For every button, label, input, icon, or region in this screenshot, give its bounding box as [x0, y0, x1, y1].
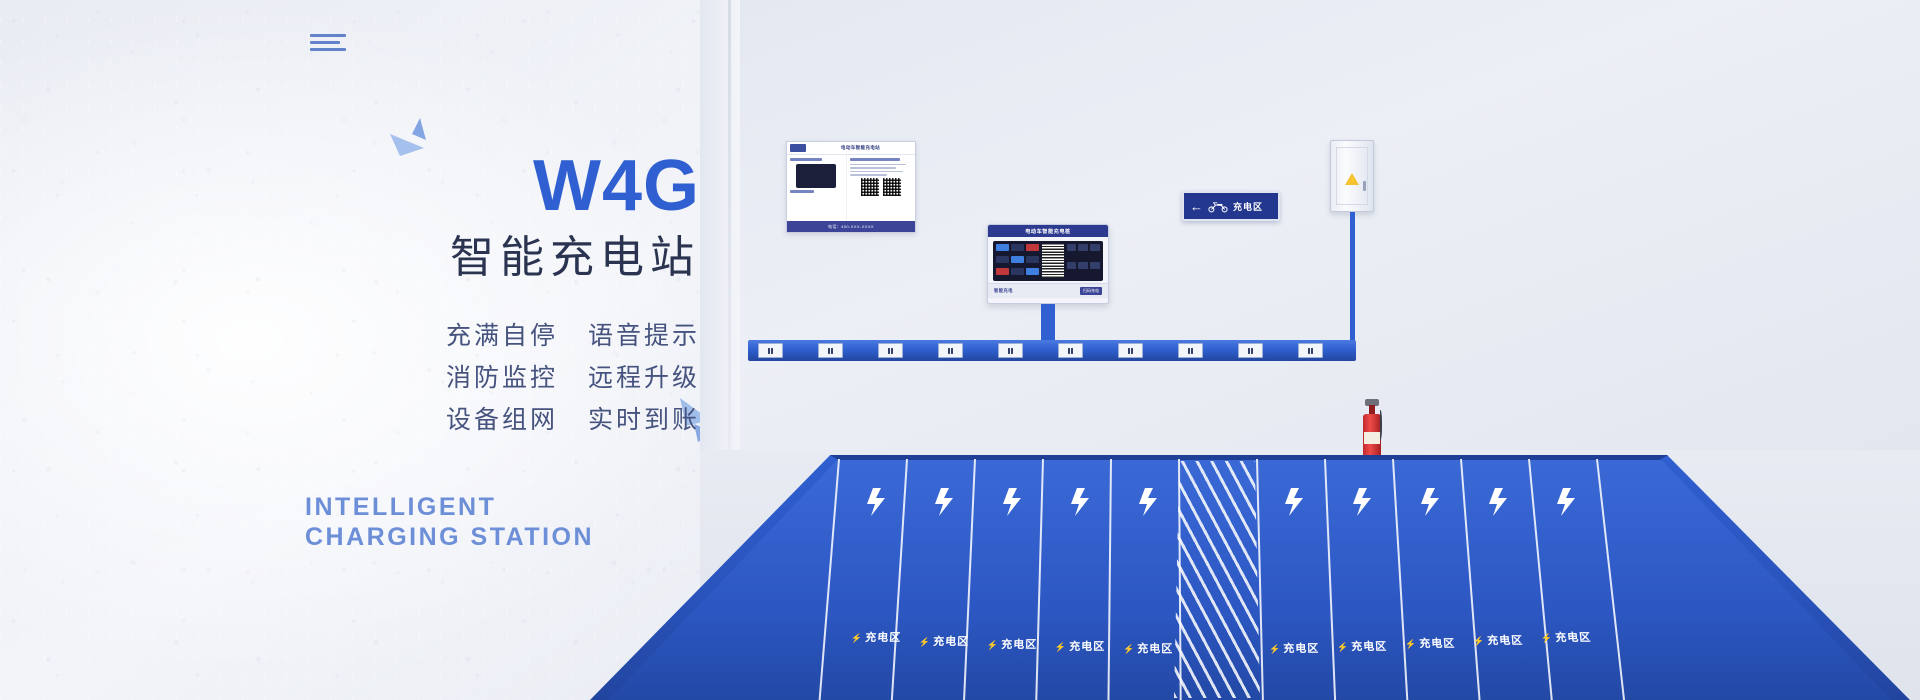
power-conduit-vertical	[1350, 212, 1355, 346]
pile-footer: 智能充电 扫码充电	[988, 283, 1108, 298]
charging-plug-icon	[928, 485, 962, 519]
feature-row: 充满自停 语音提示	[300, 319, 700, 354]
high-voltage-warning-icon	[1345, 173, 1359, 185]
pile-qr-code-icon[interactable]	[1042, 244, 1064, 278]
charging-outlet[interactable]	[758, 343, 783, 358]
charging-outlet[interactable]	[818, 343, 843, 358]
parking-bay-label: ⚡充电区	[919, 633, 970, 649]
parking-bay[interactable]: ⚡充电区	[1120, 483, 1184, 673]
pile-keypad[interactable]	[1067, 244, 1100, 278]
parking-bay-label: ⚡充电区	[850, 629, 901, 645]
qr-code-icon	[861, 178, 879, 196]
pile-port[interactable]	[1026, 244, 1039, 251]
parking-bay[interactable]: ⚡充电区	[1266, 483, 1330, 673]
pile-key[interactable]	[1090, 262, 1100, 269]
pile-key[interactable]	[1067, 244, 1077, 251]
parking-bay[interactable]: ⚡充电区	[1334, 483, 1398, 673]
feature-item: 实时到账	[588, 403, 700, 438]
pile-port[interactable]	[996, 268, 1009, 275]
charging-plug-icon	[1414, 485, 1448, 519]
feature-item: 充满自停	[446, 319, 558, 354]
charging-plug-icon	[996, 485, 1030, 519]
pile-port[interactable]	[996, 256, 1009, 263]
parking-bay[interactable]: ⚡充电区	[1052, 483, 1116, 673]
pile-port[interactable]	[1011, 256, 1024, 263]
extinguisher-hose	[1378, 410, 1382, 440]
poster-body	[787, 155, 915, 221]
poster-chip	[790, 190, 814, 193]
parking-bay-label: ⚡充电区	[1269, 640, 1320, 656]
lot-top-edge	[830, 455, 1668, 460]
pile-port[interactable]	[1026, 256, 1039, 263]
charging-plug-icon	[1278, 485, 1312, 519]
charging-outlet[interactable]	[1178, 343, 1203, 358]
poster-footer: 电话：400-XXX-XXXX	[787, 221, 915, 233]
hero-copy: W4G 智能充电站 充满自停 语音提示 消防监控 远程升级 设备组网 实时到账	[300, 150, 700, 445]
english-tagline-line2: CHARGING STATION	[305, 522, 594, 552]
parking-bay[interactable]: ⚡充电区	[1470, 483, 1534, 673]
pile-key[interactable]	[1078, 244, 1088, 251]
poster-logo	[790, 144, 806, 152]
brand-title: W4G	[300, 150, 700, 222]
back-wall	[730, 0, 1920, 470]
parking-bay-label: ⚡充电区	[1123, 640, 1173, 656]
poster-left-column	[787, 155, 846, 221]
poster-qr-group	[850, 178, 912, 196]
pile-badge: 扫码充电	[1080, 287, 1102, 295]
hamburger-bar	[310, 34, 346, 37]
hamburger-bar	[310, 48, 346, 51]
pile-title: 电动车智能充电桩	[1025, 228, 1071, 235]
poster-text-line	[850, 164, 906, 166]
no-parking-hatched-zone	[1174, 461, 1260, 698]
parking-lot: ⚡充电区 ⚡充电区 ⚡充电区 ⚡充电区	[590, 455, 1910, 700]
pile-key[interactable]	[1067, 262, 1077, 269]
parking-bay[interactable]: ⚡充电区	[1538, 483, 1602, 673]
charging-outlet[interactable]	[1118, 343, 1143, 358]
electrical-cabinet[interactable]	[1330, 140, 1374, 212]
charging-plug-icon	[1346, 485, 1380, 519]
hamburger-menu-icon[interactable]	[310, 34, 346, 55]
parking-bay-label: ⚡充电区	[1540, 629, 1592, 645]
pile-key[interactable]	[1078, 262, 1088, 269]
feature-item: 语音提示	[588, 319, 700, 354]
poster-text-line	[850, 167, 897, 169]
hero-subtitle: 智能充电站	[300, 230, 700, 285]
wall-poster[interactable]: 电动车智能充电站	[786, 141, 916, 233]
charging-plug-icon	[1550, 485, 1584, 519]
pile-key[interactable]	[1090, 244, 1100, 251]
hero-banner: W4G 智能充电站 充满自停 语音提示 消防监控 远程升级 设备组网 实时到账 …	[0, 0, 1920, 700]
pile-brand-label: 智能充电	[994, 288, 1013, 294]
pile-port[interactable]	[1011, 244, 1024, 251]
english-tagline: INTELLIGENT CHARGING STATION	[305, 492, 594, 552]
parking-bay-label: ⚡充电区	[1337, 638, 1388, 654]
charging-plug-icon	[1132, 485, 1166, 519]
charging-plug-icon	[1064, 485, 1098, 519]
poster-device-image	[796, 164, 836, 188]
charging-outlet[interactable]	[1058, 343, 1083, 358]
left-arrow-icon: ←	[1190, 200, 1203, 213]
parking-bay-label: ⚡充电区	[987, 636, 1038, 652]
parking-bay-label: ⚡充电区	[1055, 638, 1105, 654]
charging-plug-icon	[860, 485, 894, 519]
hamburger-bar	[310, 41, 340, 44]
poster-chip	[850, 158, 900, 161]
poster-chip	[790, 158, 822, 161]
feature-item: 远程升级	[588, 361, 700, 396]
poster-title: 电动车智能充电站	[809, 145, 912, 151]
feature-item: 消防监控	[446, 361, 558, 396]
pile-screen	[993, 241, 1103, 281]
qr-code-icon	[883, 178, 901, 196]
english-tagline-line1: INTELLIGENT	[305, 492, 594, 522]
parking-bay[interactable]: ⚡充电区	[984, 483, 1048, 673]
feature-row: 设备组网 实时到账	[300, 403, 700, 438]
parking-bay-label: ⚡充电区	[1405, 635, 1456, 651]
direction-sign-text: 充电区	[1233, 200, 1263, 213]
poster-footer-text: 电话：400-XXX-XXXX	[828, 224, 874, 230]
poster-header: 电动车智能充电站	[787, 142, 915, 155]
charging-outlet[interactable]	[1298, 343, 1323, 358]
feature-list: 充满自停 语音提示 消防监控 远程升级 设备组网 实时到账	[300, 319, 700, 438]
poster-text-line	[850, 174, 887, 176]
feature-item: 设备组网	[446, 403, 558, 438]
poster-right-column	[846, 155, 915, 221]
charging-outlet[interactable]	[878, 343, 903, 358]
poster-text-line	[850, 171, 903, 173]
pile-port-grid	[996, 244, 1039, 278]
charging-outlet[interactable]	[938, 343, 963, 358]
parking-bay[interactable]: ⚡充电区	[916, 483, 980, 673]
pile-port[interactable]	[996, 244, 1009, 251]
pile-port[interactable]	[1011, 268, 1024, 275]
charging-station-illustration: 电动车智能充电站	[700, 0, 1920, 700]
charging-plug-icon	[1482, 485, 1516, 519]
charging-outlet[interactable]	[1238, 343, 1263, 358]
charging-pile-controller[interactable]: 电动车智能充电桩	[987, 224, 1109, 304]
parking-bay-label: ⚡充电区	[1472, 632, 1523, 648]
pile-header: 电动车智能充电桩	[988, 225, 1108, 237]
motorbike-icon	[1207, 200, 1229, 213]
parking-bay[interactable]: ⚡充电区	[1402, 483, 1466, 673]
pile-support-post	[1041, 304, 1055, 344]
charging-outlet[interactable]	[998, 343, 1023, 358]
feature-row: 消防监控 远程升级	[300, 361, 700, 396]
direction-sign[interactable]: ← 充电区	[1182, 191, 1280, 221]
parking-bay[interactable]: ⚡充电区	[848, 483, 912, 673]
cabinet-handle[interactable]	[1363, 181, 1366, 191]
pile-port[interactable]	[1026, 268, 1039, 275]
